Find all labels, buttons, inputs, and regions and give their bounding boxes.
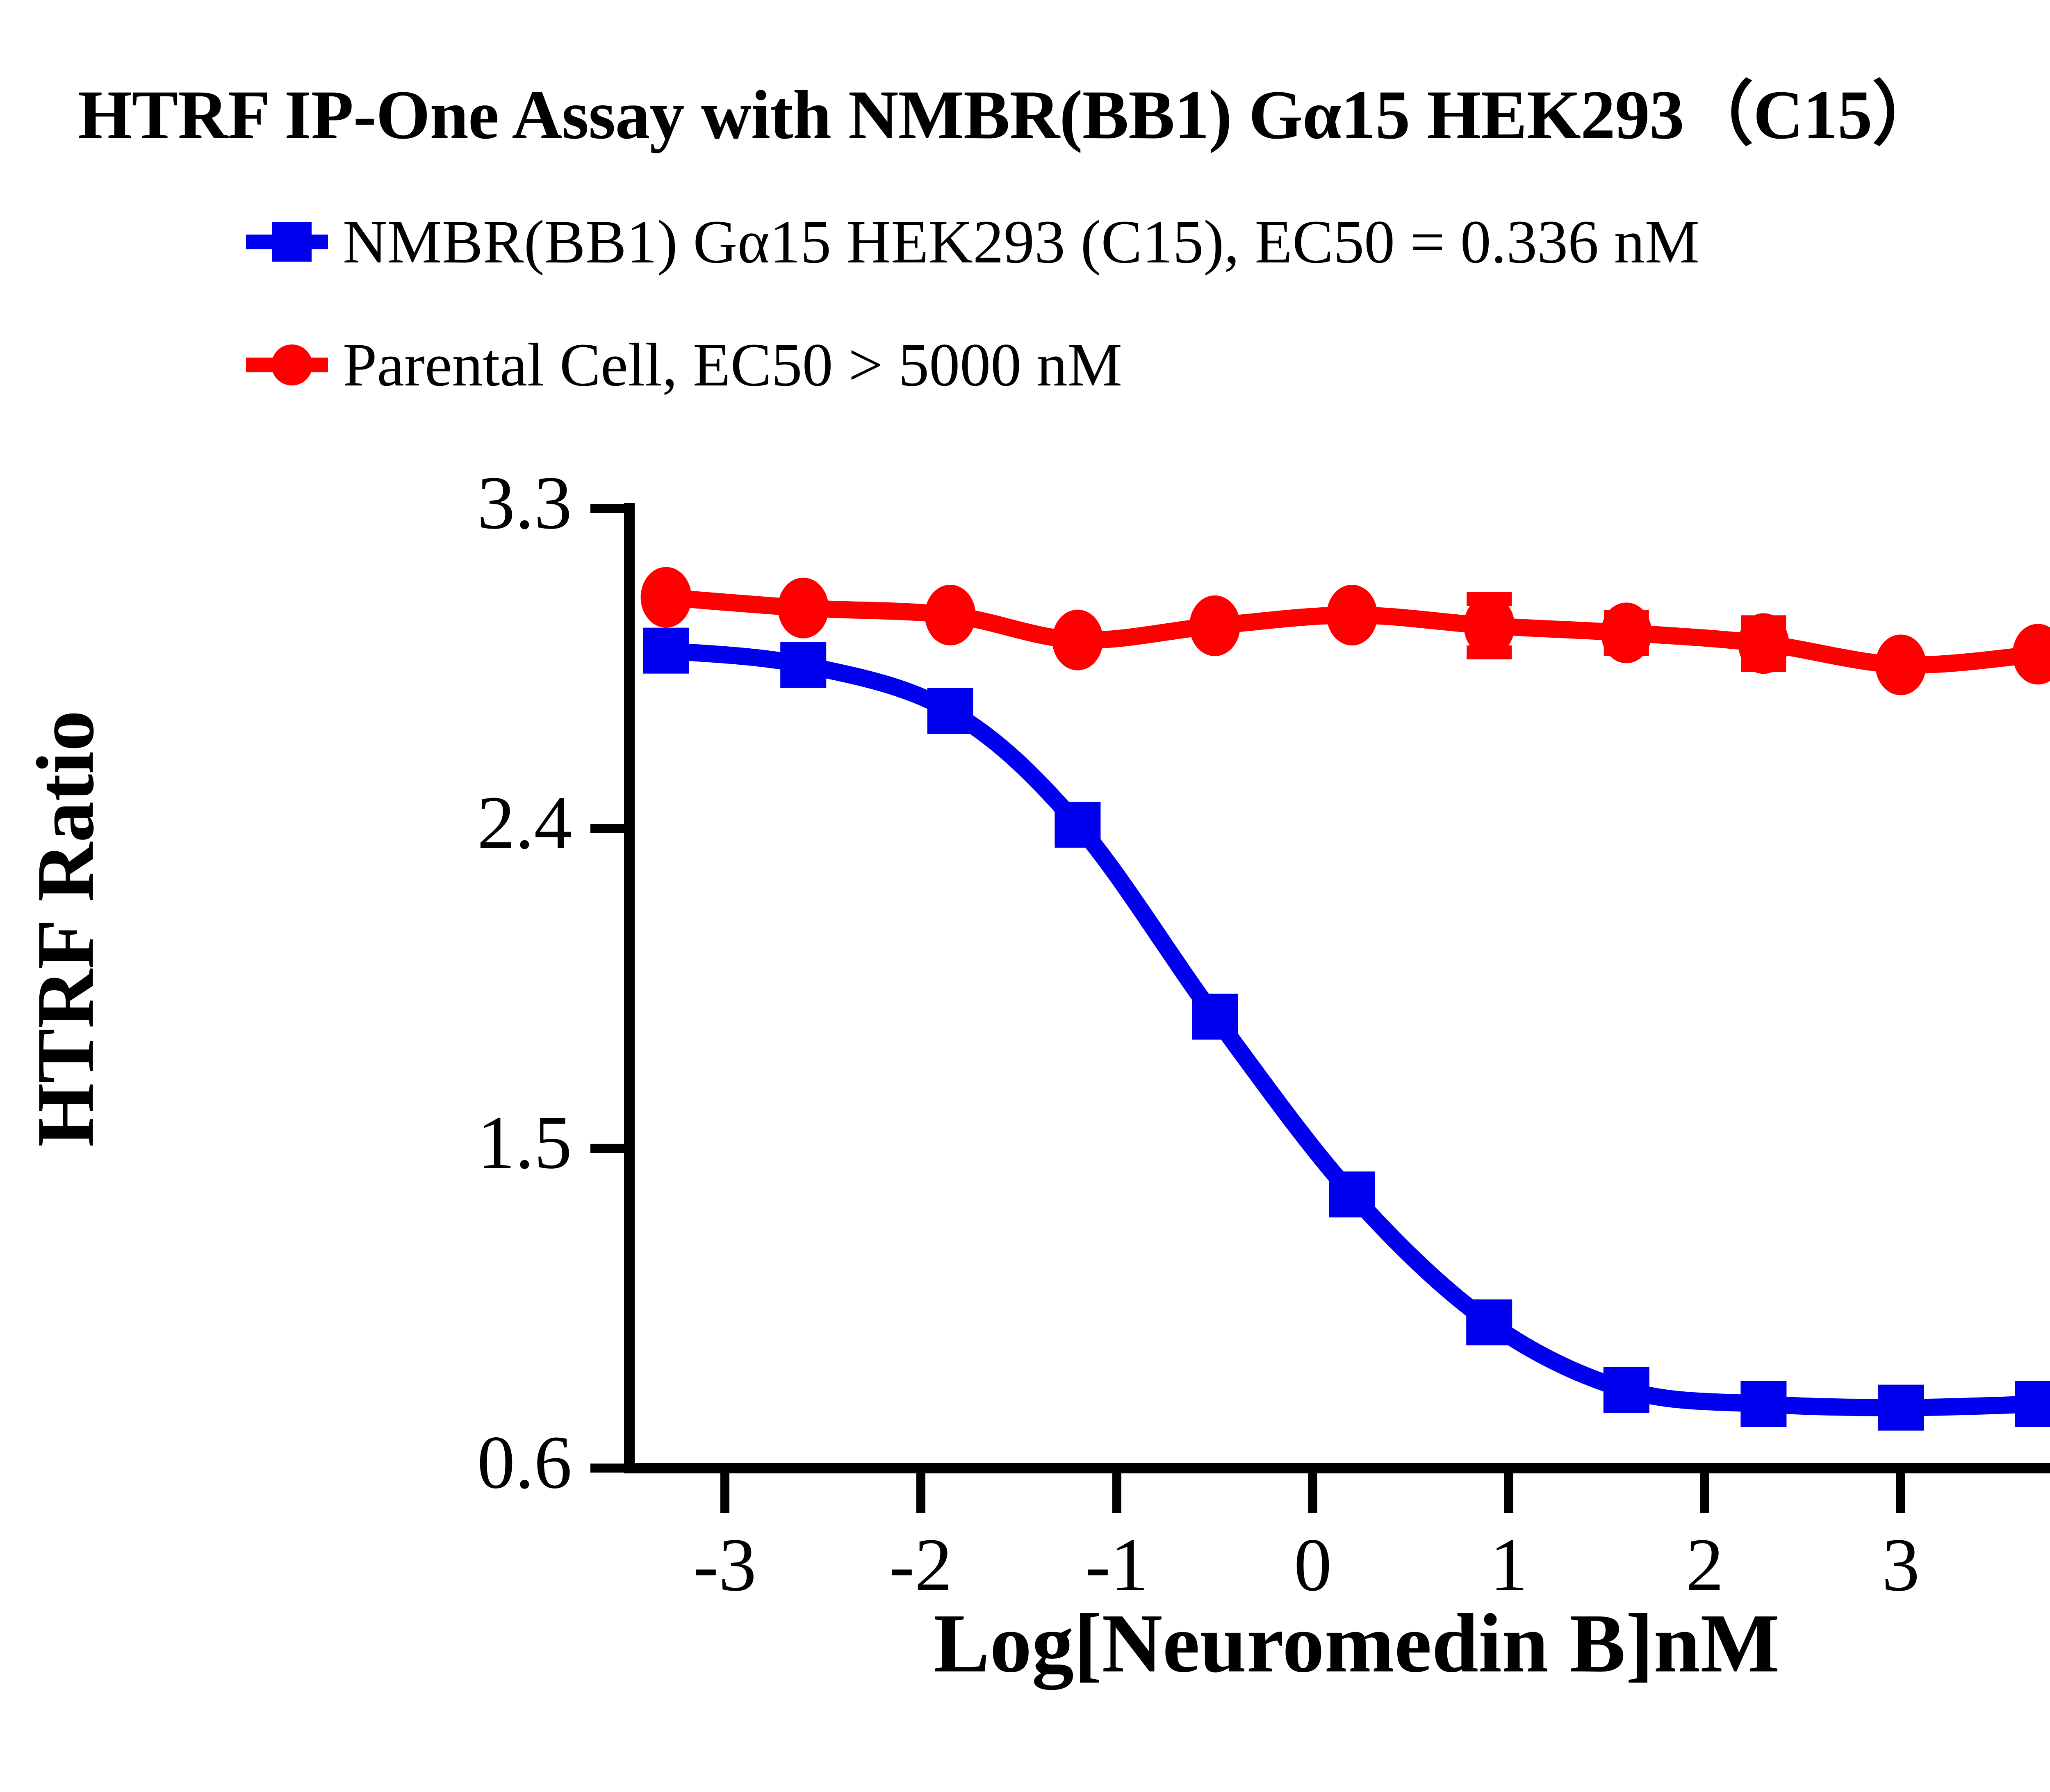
x-axis-tick-label: 0	[1251, 1521, 1374, 1609]
data-point-circle	[1875, 634, 1926, 695]
data-point-square	[1192, 994, 1238, 1040]
series-curve	[666, 651, 2038, 1408]
x-axis-tick-label: 1	[1447, 1521, 1570, 1609]
data-point-circle	[1189, 595, 1240, 656]
data-point-square	[2015, 1381, 2050, 1427]
data-point-square	[1740, 1381, 1786, 1427]
x-axis-tick-label: 2	[1643, 1521, 1766, 1609]
y-axis-tick-label: 3.3	[400, 459, 572, 547]
x-axis-tick-label: 4	[2035, 1521, 2050, 1609]
data-point-square	[1329, 1172, 1375, 1217]
series-nmbr	[643, 628, 2050, 1431]
data-point-circle	[1052, 610, 1103, 670]
data-point-circle	[1327, 585, 1378, 645]
data-point-circle	[1464, 595, 1515, 656]
figure-canvas: HTRF IP-One Assay with NMBR(BB1) Gα15 HE…	[0, 0, 2050, 1792]
data-point-square	[927, 688, 973, 734]
data-point-square	[643, 628, 689, 674]
data-point-circle	[2013, 624, 2050, 684]
data-point-circle	[925, 585, 976, 645]
x-axis-title: Log[Neuromedin B]nM	[0, 1595, 2050, 1692]
data-point-square	[1604, 1367, 1649, 1413]
y-axis-tick-label: 0.6	[400, 1419, 572, 1506]
y-axis-title: HTRF Ratio	[19, 683, 113, 1175]
data-point-square	[780, 642, 826, 688]
y-axis-tick-label: 2.4	[400, 779, 572, 866]
y-axis-tick-label: 1.5	[400, 1099, 572, 1186]
data-point-circle	[641, 567, 692, 628]
x-axis-tick-label: 3	[1839, 1521, 1962, 1609]
data-point-circle	[1738, 613, 1789, 674]
x-axis-tick-label: -2	[859, 1521, 982, 1609]
data-point-square	[1466, 1300, 1512, 1345]
x-axis-tick-label: -3	[663, 1521, 786, 1609]
x-axis-tick-label: -1	[1055, 1521, 1178, 1609]
data-point-square	[1055, 802, 1100, 848]
data-point-circle	[778, 578, 829, 638]
data-point-circle	[1601, 602, 1652, 663]
data-point-square	[1878, 1385, 1924, 1431]
